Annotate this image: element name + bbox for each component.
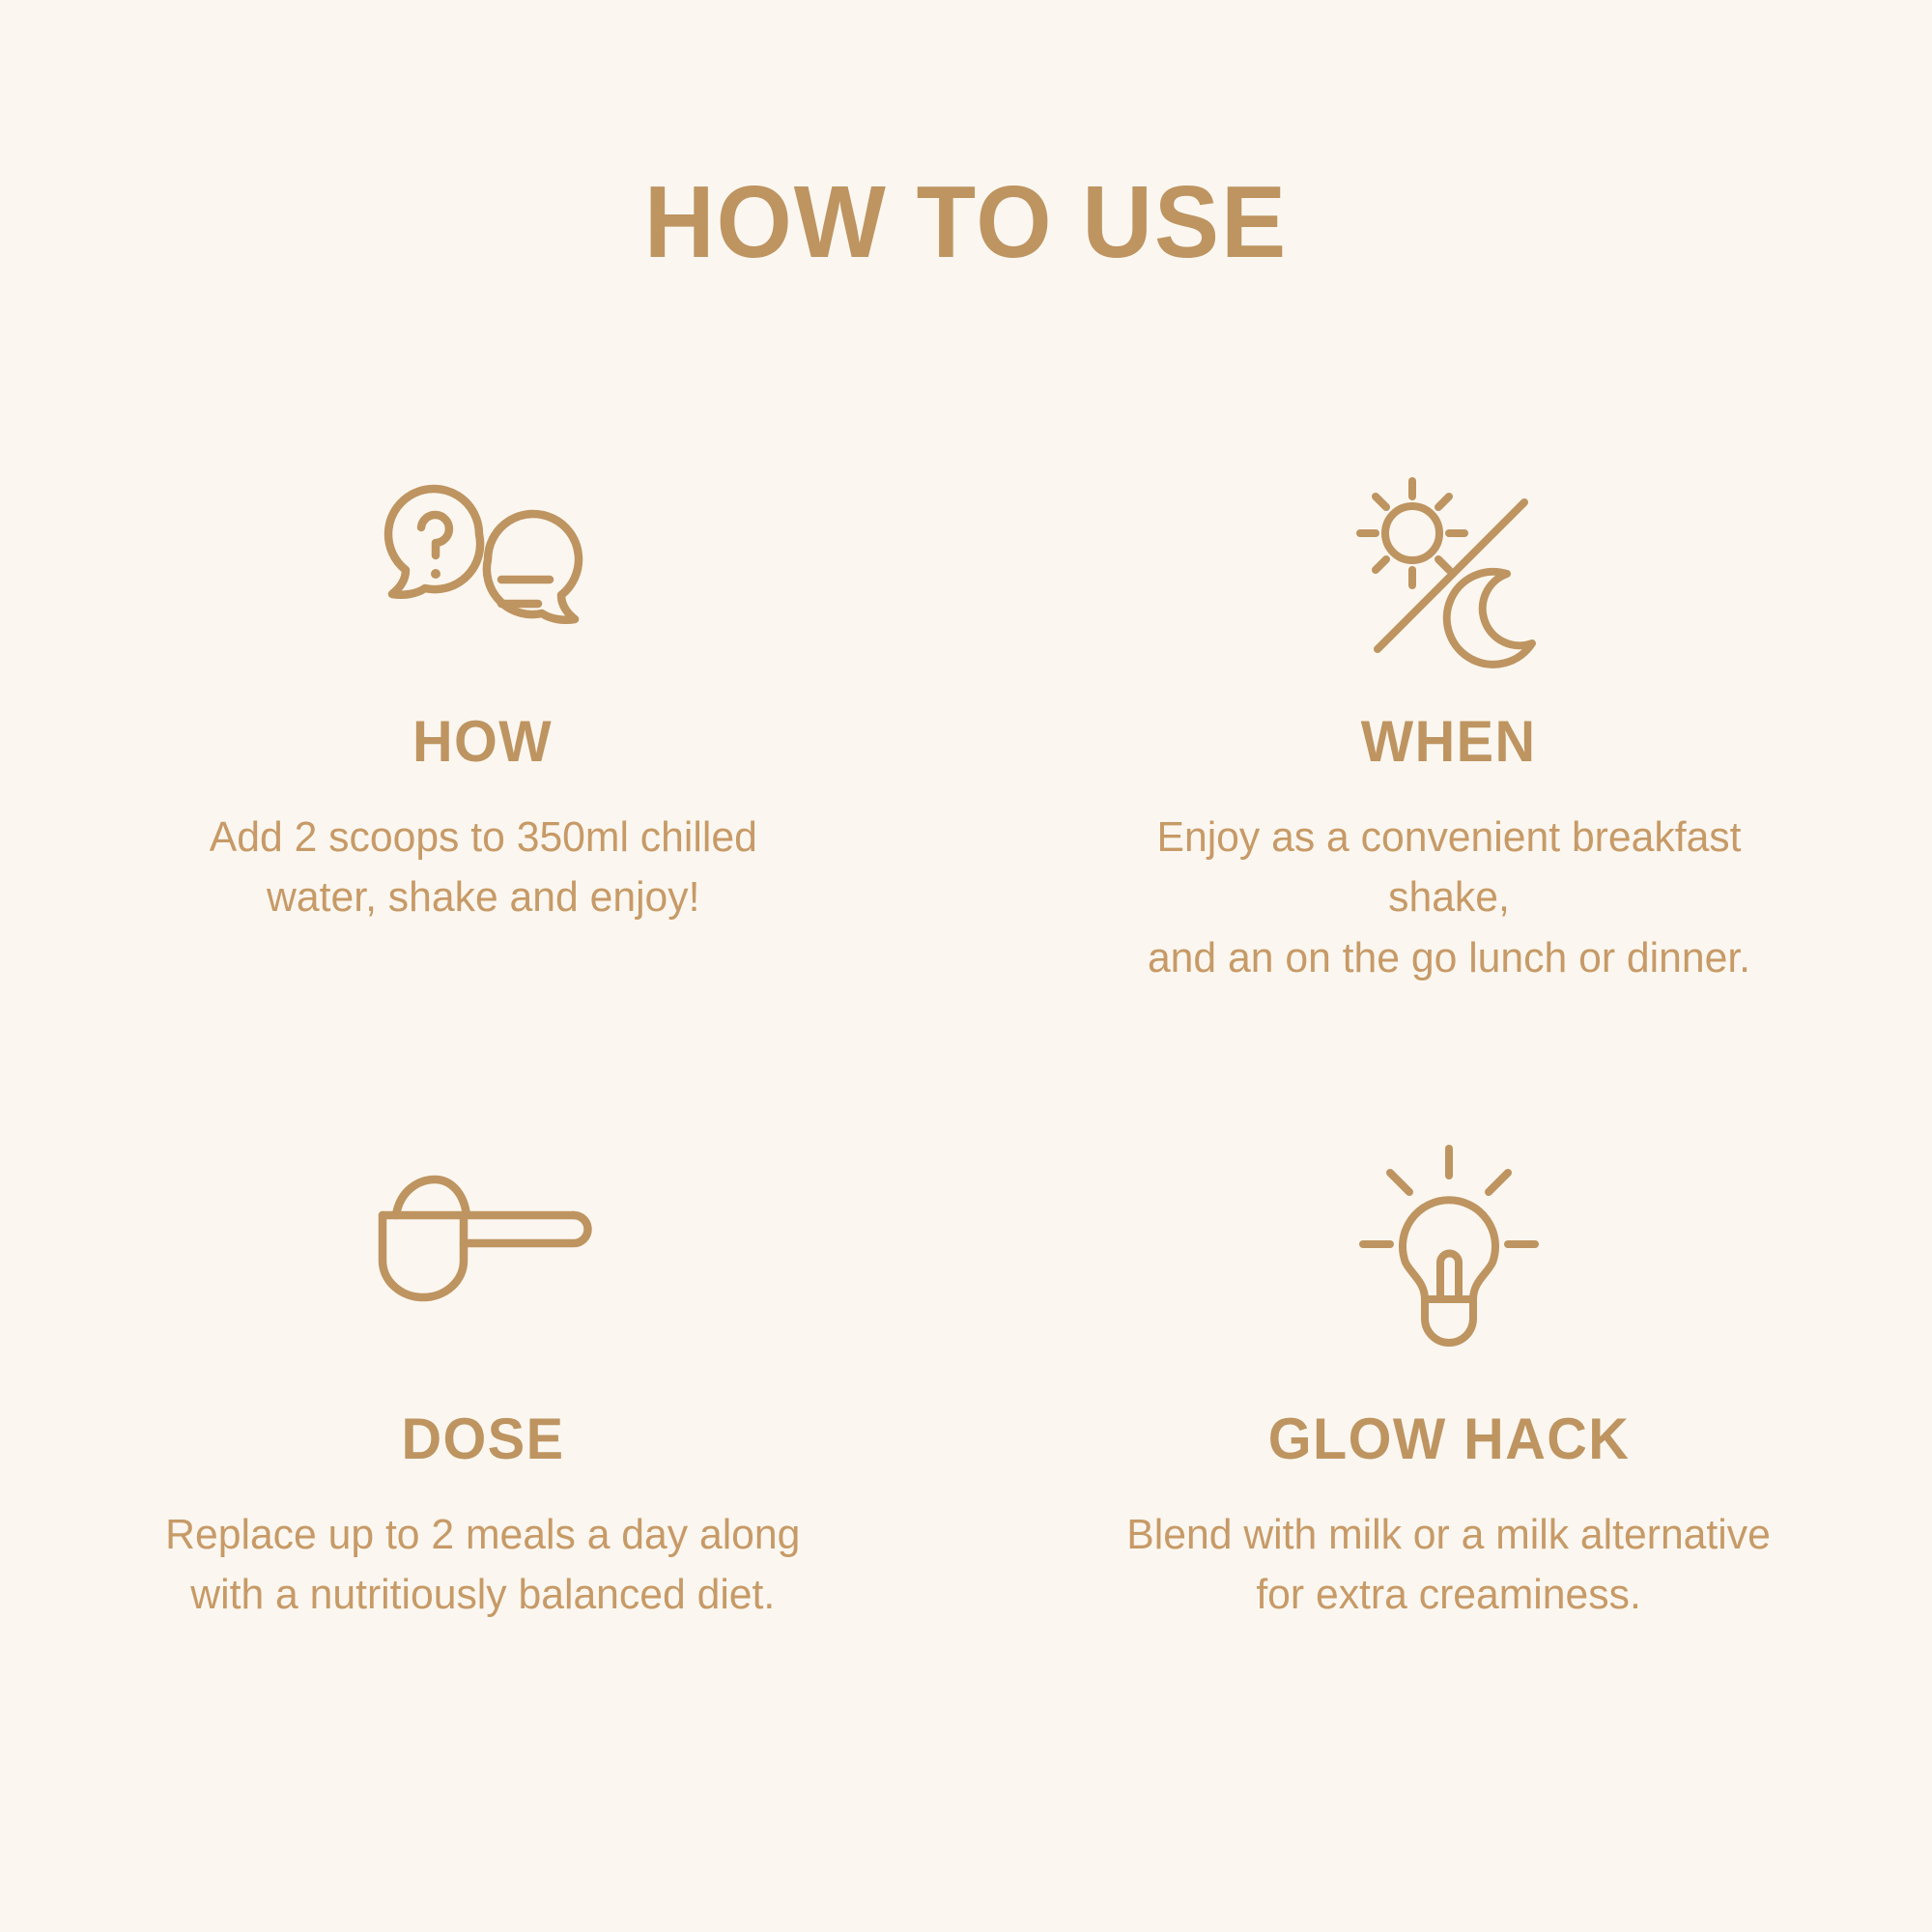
feature-grid: HOW Add 2 scoops to 350ml chilled water,… bbox=[0, 454, 1932, 1806]
card-body-line: and an on the go lunch or dinner. bbox=[1093, 928, 1804, 988]
measuring-scoop-icon bbox=[375, 1130, 592, 1352]
card-dose: DOSE Replace up to 2 meals a day along w… bbox=[0, 1130, 966, 1806]
page-title: HOW TO USE bbox=[48, 169, 1884, 276]
sun-moon-icon bbox=[1352, 454, 1546, 686]
card-body-line: Blend with milk or a milk alternative bbox=[1127, 1505, 1772, 1565]
card-when: WHEN Enjoy as a convenient breakfast sha… bbox=[966, 454, 1932, 1130]
speech-bubbles-icon bbox=[380, 454, 587, 686]
card-body-line: for extra creaminess. bbox=[1127, 1565, 1772, 1625]
card-body-line: Replace up to 2 meals a day along bbox=[165, 1505, 800, 1565]
card-heading-how: HOW bbox=[412, 713, 553, 771]
card-body-when: Enjoy as a convenient breakfast shake, a… bbox=[1093, 808, 1804, 988]
card-body-line: water, shake and enjoy! bbox=[209, 867, 756, 927]
lightbulb-icon bbox=[1357, 1130, 1541, 1352]
card-body-line: Enjoy as a convenient breakfast shake, bbox=[1093, 808, 1804, 928]
card-body-line: Add 2 scoops to 350ml chilled bbox=[209, 808, 756, 867]
card-heading-dose: DOSE bbox=[401, 1410, 564, 1468]
how-to-use-page: HOW TO USE HOW Add 2 scoops to 35 bbox=[0, 0, 1932, 1932]
card-body-dose: Replace up to 2 meals a day along with a… bbox=[165, 1505, 800, 1626]
card-body-glow: Blend with milk or a milk alternative fo… bbox=[1127, 1505, 1772, 1626]
card-how: HOW Add 2 scoops to 350ml chilled water,… bbox=[0, 454, 966, 1130]
card-glow: GLOW HACK Blend with milk or a milk alte… bbox=[966, 1130, 1932, 1806]
card-heading-glow: GLOW HACK bbox=[1268, 1410, 1631, 1468]
card-body-how: Add 2 scoops to 350ml chilled water, sha… bbox=[209, 808, 756, 928]
card-body-line: with a nutritiously balanced diet. bbox=[165, 1565, 800, 1625]
card-heading-when: WHEN bbox=[1361, 713, 1537, 771]
